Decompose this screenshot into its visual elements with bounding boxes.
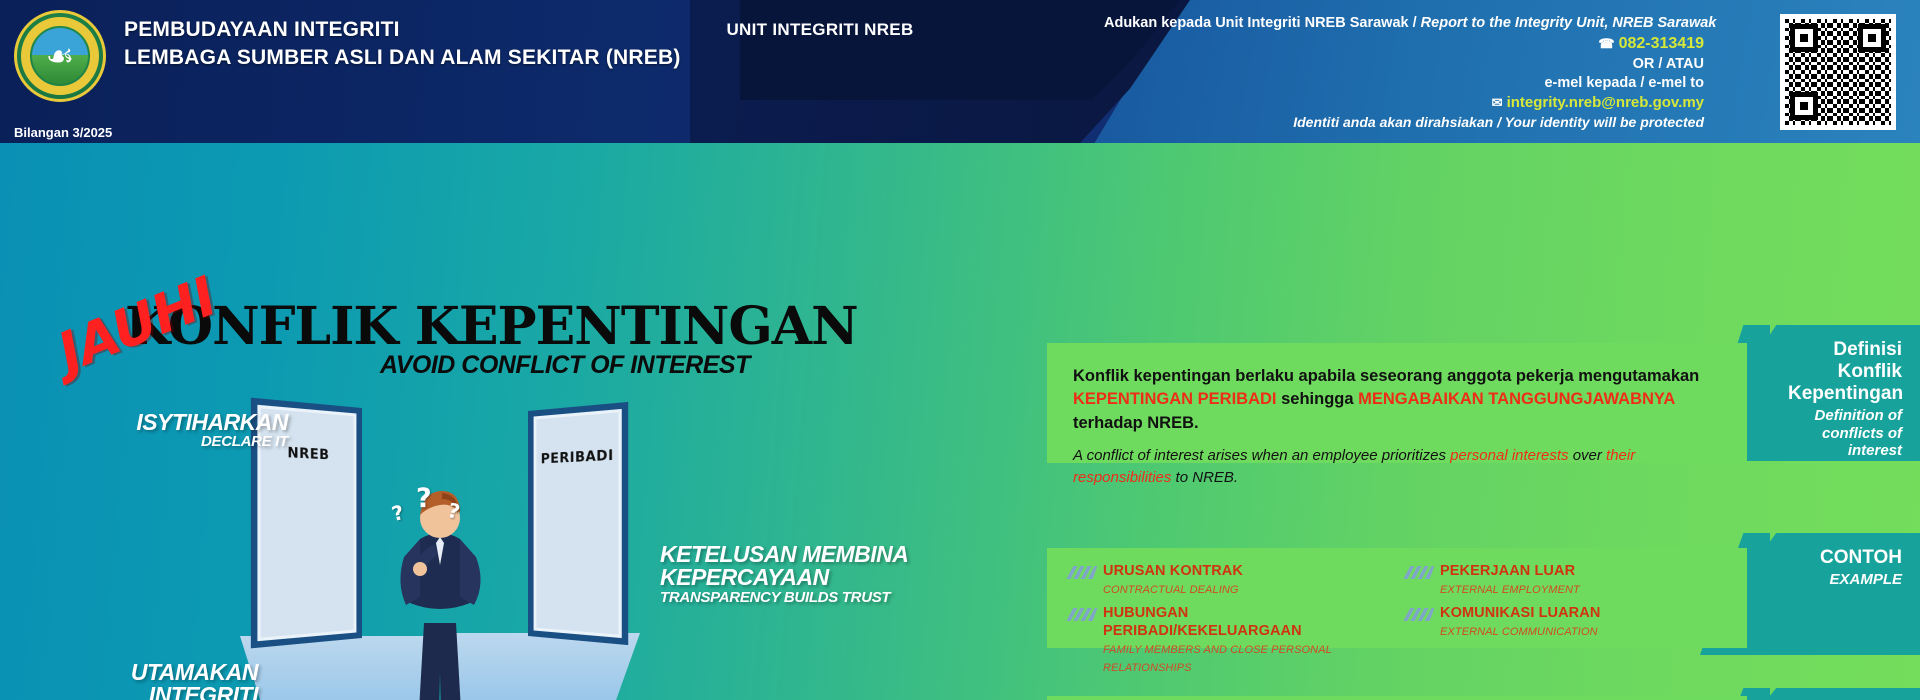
email-label: e-mel kepada / e-mel to [1104, 74, 1704, 93]
contact-block: Adukan kepada Unit Integriti NREB Sarawa… [1104, 14, 1704, 132]
arrows-icon [1067, 566, 1098, 579]
tab-definition-ms: Definisi Konflik Kepentingan [1788, 339, 1902, 405]
arrows-icon [1404, 566, 1435, 579]
kicker-jauhi: JAUHI [49, 265, 224, 385]
header-org-title: PEMBUDAYAAN INTEGRITI LEMBAGA SUMBER ASL… [124, 16, 681, 72]
poster-body: JAUHI KONFLIK KEPENTINGAN AVOID CONFLICT… [0, 143, 1920, 700]
card-action: Laporkan sebarang kemungkinan konflik ke… [1047, 696, 1747, 700]
label-transparency: KETELUSAN MEMBINA KEPERCAYAAN TRANSPAREN… [660, 543, 920, 605]
definition-ms-1: Konflik kepentingan berlaku apabila sese… [1073, 367, 1699, 385]
example-label-en: FAMILY MEMBERS AND CLOSE PERSONAL RELATI… [1103, 644, 1332, 674]
arrows-icon [1067, 608, 1098, 621]
question-mark-2: ? [416, 483, 432, 514]
header-unit-name: UNIT INTEGRITI NREB [700, 20, 940, 40]
label-integrity-ms: UTAMAKAN INTEGRITI [28, 661, 258, 700]
page-title: KONFLIK KEPENTINGAN [125, 301, 858, 353]
tab-definition-en: Definition of conflicts of interest [1788, 407, 1902, 460]
arrows-icon [1404, 608, 1435, 621]
definition-en-3: to NREB. [1171, 469, 1238, 486]
tab-action[interactable]: Tindakan Action step [1762, 688, 1920, 700]
definition-text-en: A conflict of interest arises when an em… [1073, 445, 1721, 488]
tab-definition[interactable]: Definisi Konflik Kepentingan Definition … [1762, 325, 1920, 461]
definition-ms-2: sehingga [1277, 390, 1359, 408]
definition-ms-red-2: MENGABAIKAN TANGGUNGJAWABNYA [1358, 390, 1675, 408]
report-label-ms: Adukan kepada Unit Integriti NREB Sarawa… [1104, 15, 1409, 31]
example-label-en: EXTERNAL EMPLOYMENT [1440, 584, 1580, 596]
definition-text-ms: Konflik kepentingan berlaku apabila sese… [1073, 365, 1721, 435]
example-label-ms: HUBUNGAN PERIBADI/KEKELUARGAAN [1103, 605, 1302, 639]
door-label-peribadi: PERIBADI [534, 448, 622, 468]
privacy-note: Identiti anda akan dirahsiakan / Your id… [1104, 113, 1704, 132]
tab-example-en: EXAMPLE [1788, 571, 1902, 589]
contact-phone[interactable]: 082-313419 [1619, 35, 1704, 52]
label-transparency-ms2: KEPERCAYAAN [660, 566, 920, 589]
example-item: HUBUNGAN PERIBADI/KEKELUARGAAN FAMILY ME… [1069, 604, 1388, 676]
example-label-ms: PEKERJAAN LUAR [1440, 563, 1575, 579]
definition-en-2: over [1569, 447, 1607, 464]
example-item: PEKERJAAN LUAR EXTERNAL EMPLOYMENT [1406, 562, 1725, 598]
label-declare-ms: ISYTIHARKAN [88, 411, 288, 434]
page-header: ☙ PEMBUDAYAAN INTEGRITI LEMBAGA SUMBER A… [0, 0, 1920, 143]
qr-code[interactable] [1780, 14, 1896, 130]
definition-en-1: A conflict of interest arises when an em… [1073, 447, 1450, 464]
definition-en-red-1: personal interests [1450, 447, 1568, 464]
label-transparency-ms1: KETELUSAN MEMBINA [660, 543, 920, 566]
example-column-left: URUSAN KONTRAK CONTRACTUAL DEALING HUBUN… [1069, 562, 1388, 682]
page-subtitle: AVOID CONFLICT OF INTEREST [380, 351, 750, 380]
example-column-right: PEKERJAAN LUAR EXTERNAL EMPLOYMENT KOMUN… [1406, 562, 1725, 682]
report-label-en: Report to the Integrity Unit, NREB Saraw… [1421, 15, 1717, 31]
example-label-ms: URUSAN KONTRAK [1103, 563, 1243, 579]
definition-ms-red-1: KEPENTINGAN PERIBADI [1073, 390, 1277, 408]
contact-or: OR / ATAU [1104, 55, 1704, 74]
card-example: URUSAN KONTRAK CONTRACTUAL DEALING HUBUN… [1047, 548, 1747, 648]
envelope-icon: ✉ [1492, 95, 1503, 110]
label-declare-en: DECLARE IT [88, 434, 288, 449]
tab-example-ms: CONTOH [1788, 547, 1902, 569]
example-item: URUSAN KONTRAK CONTRACTUAL DEALING [1069, 562, 1388, 598]
example-label-en: CONTRACTUAL DEALING [1103, 584, 1239, 596]
label-transparency-en: TRANSPARENCY BUILDS TRUST [660, 590, 920, 605]
example-item: KOMUNIKASI LUARAN EXTERNAL COMMUNICATION [1406, 604, 1725, 640]
report-separator: / [1413, 15, 1417, 31]
tab-example[interactable]: CONTOH EXAMPLE [1762, 533, 1920, 655]
issue-number: Bilangan 3/2025 [14, 125, 112, 140]
card-definition: Konflik kepentingan berlaku apabila sese… [1047, 343, 1747, 463]
org-line-2: LEMBAGA SUMBER ASLI DAN ALAM SEKITAR (NR… [124, 44, 681, 72]
contact-email[interactable]: integrity.nreb@nreb.gov.my [1507, 94, 1704, 111]
org-line-1: PEMBUDAYAAN INTEGRITI [124, 16, 681, 44]
label-integrity-first: UTAMAKAN INTEGRITI INTEGRITY FIRST [28, 661, 258, 700]
example-label-en: EXTERNAL COMMUNICATION [1440, 626, 1598, 638]
label-declare-it: ISYTIHARKAN DECLARE IT [88, 411, 288, 450]
nreb-logo: ☙ [14, 10, 106, 102]
definition-ms-3: terhadap NREB. [1073, 414, 1199, 432]
door-peribadi: PERIBADI [528, 402, 628, 645]
example-label-ms: KOMUNIKASI LUARAN [1440, 605, 1600, 621]
phone-icon: ☎ [1598, 36, 1614, 51]
